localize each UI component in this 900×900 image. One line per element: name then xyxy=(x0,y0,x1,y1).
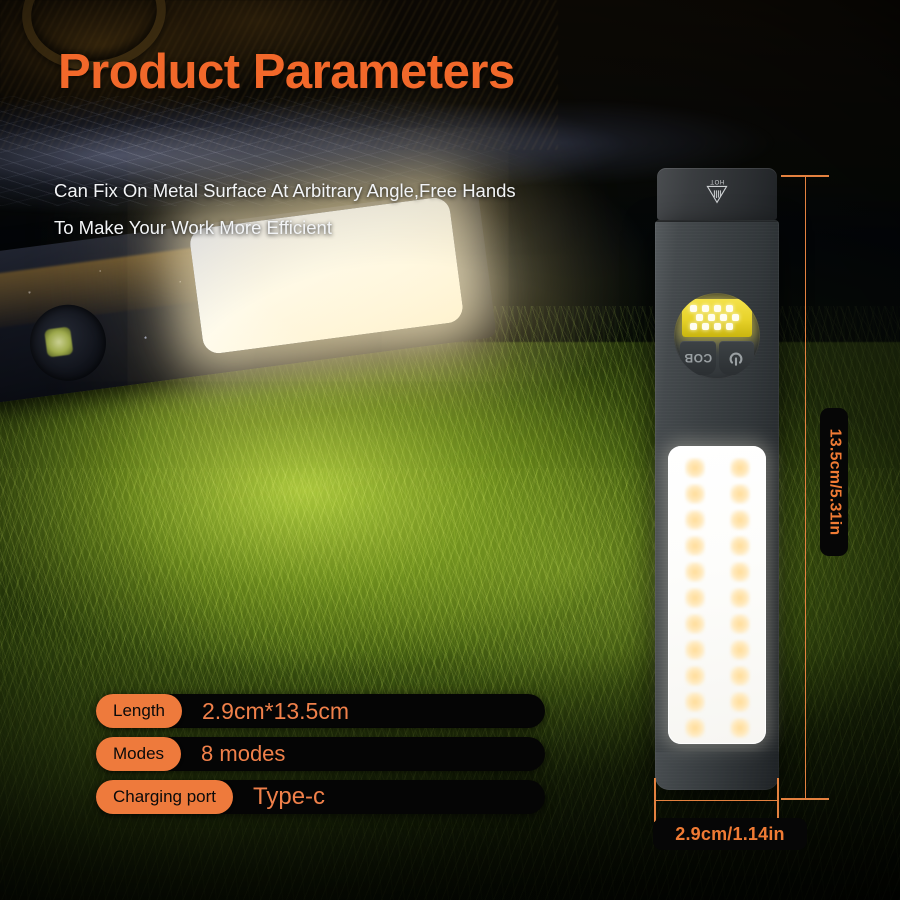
cob-led-dot xyxy=(685,458,705,478)
led-dot xyxy=(732,314,739,321)
spec-row: Modes8 modes xyxy=(96,737,545,771)
width-dimension-tick-left xyxy=(654,778,656,822)
cob-led-dot xyxy=(685,718,705,738)
cob-led-dot xyxy=(730,536,750,556)
spec-value: 8 modes xyxy=(181,741,285,767)
width-dimension-tick-right xyxy=(777,778,779,822)
cob-led-dot xyxy=(685,536,705,556)
led-dot xyxy=(696,314,703,321)
height-dimension-tick-bottom xyxy=(781,798,829,800)
cob-led-dot xyxy=(730,614,750,634)
height-dimension-line xyxy=(805,175,806,800)
spec-row: Length2.9cm*13.5cm xyxy=(96,694,545,728)
subtitle-line-1: Can Fix On Metal Surface At Arbitrary An… xyxy=(54,172,674,209)
product-end-cap: HOT xyxy=(657,168,777,220)
cob-led-dot xyxy=(730,666,750,686)
product-spotlight-leds xyxy=(682,299,752,337)
cob-led-dot xyxy=(685,588,705,608)
power-button[interactable] xyxy=(719,341,755,375)
product-parameters-page: Product Parameters Can Fix On Metal Surf… xyxy=(0,0,900,900)
led-dot xyxy=(690,323,697,330)
product-control-dial: COB xyxy=(674,293,760,379)
spec-row: Charging portType-c xyxy=(96,780,545,814)
cob-led-dot xyxy=(730,458,750,478)
led-dot xyxy=(726,305,733,312)
power-icon xyxy=(726,348,746,368)
led-dot xyxy=(690,305,697,312)
width-dimension-line xyxy=(655,800,779,801)
spec-table: Length2.9cm*13.5cmModes8 modesCharging p… xyxy=(96,694,545,823)
height-dimension-tick-top xyxy=(781,175,829,177)
spec-value: Type-c xyxy=(233,783,325,811)
product-button-row: COB xyxy=(680,341,754,375)
product-seam xyxy=(655,220,779,222)
cob-mode-button[interactable]: COB xyxy=(680,341,716,375)
cob-led-dot xyxy=(685,484,705,504)
cob-led-dot xyxy=(685,510,705,530)
spec-label-pill: Length xyxy=(96,694,182,728)
cob-led-dot xyxy=(685,692,705,712)
cob-led-dot xyxy=(685,562,705,582)
page-title: Product Parameters xyxy=(58,44,515,100)
cob-led-dot xyxy=(685,666,705,686)
led-dot xyxy=(702,305,709,312)
width-dimension-badge: 2.9cm/1.14in xyxy=(653,818,807,850)
led-dot xyxy=(714,323,721,330)
cob-led-dot xyxy=(730,484,750,504)
led-dot xyxy=(726,323,733,330)
product-cob-panel xyxy=(668,446,766,744)
product-base xyxy=(655,752,779,790)
led-dot xyxy=(714,305,721,312)
hot-warning-icon: HOT xyxy=(700,178,734,204)
cob-led-dot xyxy=(730,692,750,712)
subtitle-line-2: To Make Your Work More Efficient xyxy=(54,209,674,246)
height-dimension-label: 13.5cm/5.31in xyxy=(825,429,843,536)
cob-button-label: COB xyxy=(684,351,712,365)
cob-led-dot xyxy=(685,640,705,660)
cob-led-dot xyxy=(730,562,750,582)
product-flashlight: HOT COB xyxy=(655,168,779,790)
spec-label-pill: Modes xyxy=(96,737,181,771)
page-subtitle: Can Fix On Metal Surface At Arbitrary An… xyxy=(54,172,674,246)
spec-value: 2.9cm*13.5cm xyxy=(182,698,349,725)
height-dimension-badge: 13.5cm/5.31in xyxy=(820,408,848,556)
cob-led-dot xyxy=(685,614,705,634)
led-dot xyxy=(702,323,709,330)
cob-led-dot xyxy=(730,588,750,608)
led-dot xyxy=(708,314,715,321)
spec-label-pill: Charging port xyxy=(96,780,233,814)
width-dimension-label: 2.9cm/1.14in xyxy=(675,824,784,845)
led-dot xyxy=(720,314,727,321)
cob-led-dot xyxy=(730,510,750,530)
cob-led-dot xyxy=(730,718,750,738)
hot-warning-label: HOT xyxy=(700,178,734,184)
cob-led-dot xyxy=(730,640,750,660)
